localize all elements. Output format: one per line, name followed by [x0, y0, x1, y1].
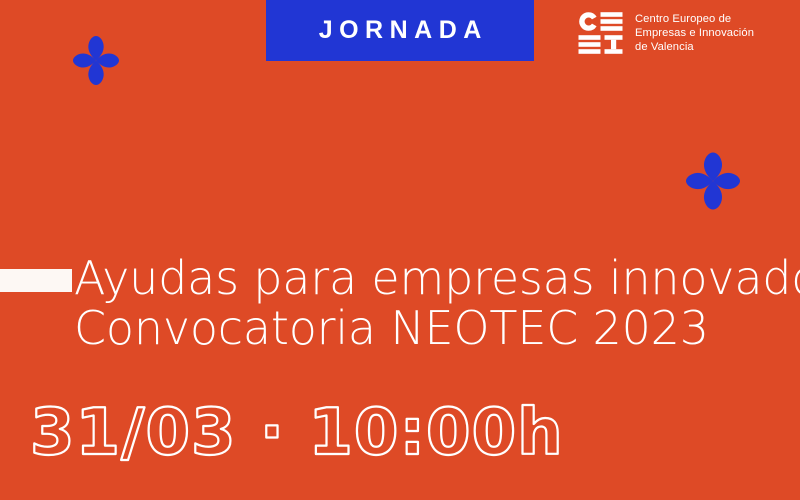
- event-datetime-text: 31/03 · 10:00h: [30, 396, 564, 470]
- jornada-banner: JORNADA: [266, 0, 534, 61]
- page-title-line-1: Ayudas para empresas innovadoras:: [74, 253, 800, 303]
- ceei-logo-text-line-2: Empresas e Innovación: [635, 26, 754, 40]
- flower-decoration-icon: [69, 32, 123, 89]
- event-poster: JORNADA Centro Europeo de Empresas e Inn…: [0, 0, 800, 500]
- jornada-banner-label: JORNADA: [312, 18, 488, 43]
- ceei-logo: Centro Europeo de Empresas e Innovación …: [578, 11, 754, 55]
- flower-decoration-icon: [681, 148, 745, 214]
- ceei-logo-text-line-1: Centro Europeo de: [635, 12, 754, 26]
- event-datetime-outline: 31/03 · 10:00h: [30, 392, 770, 468]
- ceei-logo-text-line-3: de Valencia: [635, 40, 754, 54]
- event-datetime: 31/03 · 10:00h: [30, 392, 770, 468]
- ceei-logo-text: Centro Europeo de Empresas e Innovación …: [635, 11, 754, 55]
- ceei-logo-mark-icon: [578, 11, 623, 55]
- accent-bar: [0, 269, 72, 292]
- page-title-line-2: Convocatoria NEOTEC 2023: [74, 303, 800, 353]
- page-title: Ayudas para empresas innovadoras: Convoc…: [74, 253, 800, 353]
